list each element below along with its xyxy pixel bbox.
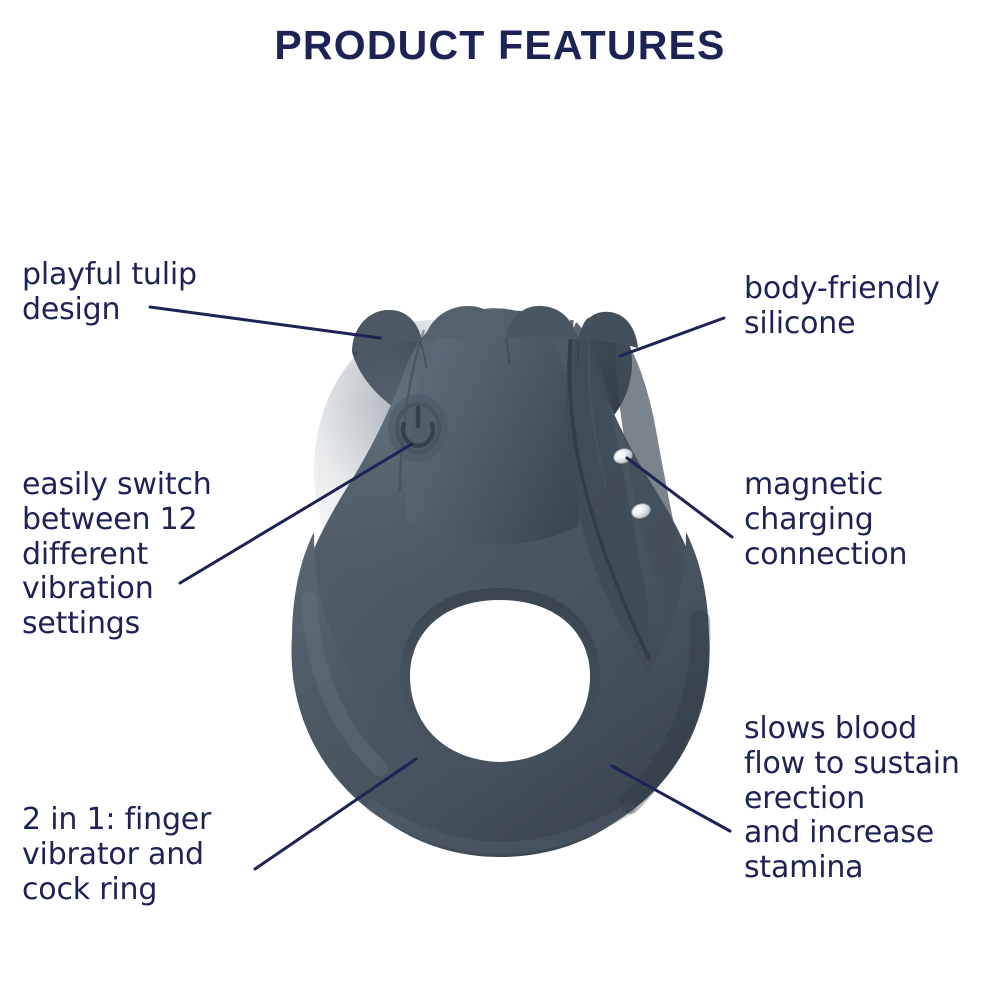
callout-two-in-one: 2 in 1: finger vibrator and cock ring — [22, 803, 322, 907]
callout-vibration-settings: easily switch between 12 different vibra… — [22, 468, 302, 642]
product-body — [291, 306, 709, 857]
callout-tulip-design: playful tulip design — [22, 258, 322, 328]
product-features-infographic: PRODUCT FEATURES — [0, 0, 1000, 1000]
ring-inner-shadow — [400, 588, 600, 774]
callout-magnetic-charging: magnetic charging connection — [744, 468, 1000, 572]
callout-body-friendly-silicone: body-friendly silicone — [744, 272, 1000, 342]
callout-blood-flow: slows blood flow to sustain erection and… — [744, 712, 1000, 886]
